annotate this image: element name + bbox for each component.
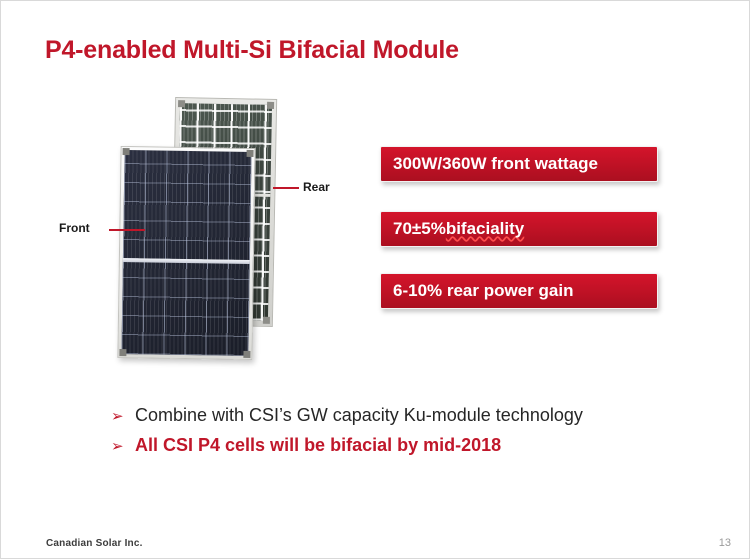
front-panel-label: Front <box>59 221 90 235</box>
feature-callout-rear-gain: 6-10% rear power gain <box>380 273 658 309</box>
front-panel-corner-bracket <box>243 351 250 358</box>
feature-callout-misspelled-word: bifaciality <box>446 219 524 239</box>
front-panel-cells <box>121 150 251 356</box>
feature-callout-prefix: 70±5% <box>393 219 446 239</box>
list-item-label: All CSI P4 cells will be bifacial by mid… <box>135 435 501 456</box>
footer-page-number: 13 <box>719 537 731 549</box>
front-leader-line <box>109 229 145 231</box>
page-title: P4-enabled Multi-Si Bifacial Module <box>45 36 459 65</box>
feature-callout-text: 6-10% rear power gain <box>393 281 573 301</box>
rear-leader-line <box>273 187 299 189</box>
rear-panel-corner-bracket <box>263 317 270 324</box>
rear-panel-corner-bracket <box>267 102 274 109</box>
feature-callout-bifaciality: 70±5% bifaciality <box>380 211 658 247</box>
presentation-slide: P4-enabled Multi-Si Bifacial Module Fron… <box>0 0 750 559</box>
front-panel-corner-bracket <box>247 150 254 157</box>
rear-panel-label: Rear <box>303 180 330 194</box>
feature-callout-text: 300W/360W front wattage <box>393 154 598 174</box>
rear-panel-corner-bracket <box>178 100 185 107</box>
footer-company-name: Canadian Solar Inc. <box>46 538 143 549</box>
arrow-bullet-icon: ➢ <box>111 409 135 424</box>
arrow-bullet-icon: ➢ <box>111 439 135 454</box>
list-item: ➢ Combine with CSI’s GW capacity Ku-modu… <box>111 405 671 426</box>
bullet-list: ➢ Combine with CSI’s GW capacity Ku-modu… <box>111 405 671 465</box>
list-item: ➢ All CSI P4 cells will be bifacial by m… <box>111 435 671 456</box>
front-panel-corner-bracket <box>119 349 126 356</box>
feature-callout-wattage: 300W/360W front wattage <box>380 146 658 182</box>
front-panel-corner-bracket <box>123 148 130 155</box>
list-item-label: Combine with CSI’s GW capacity Ku-module… <box>135 405 583 426</box>
front-solar-panel-image <box>117 146 255 360</box>
